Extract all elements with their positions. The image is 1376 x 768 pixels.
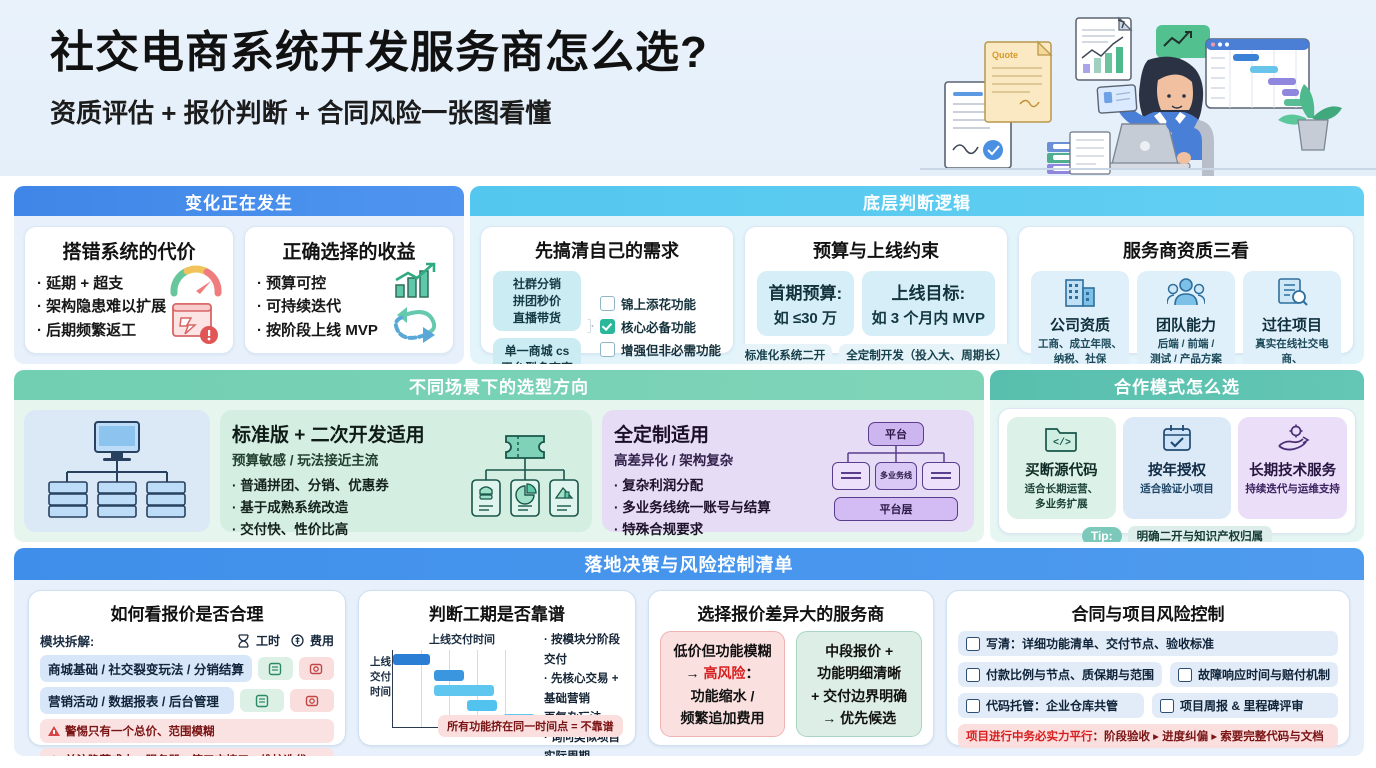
quote-warning: 警惕只有一个总价、范围模糊 [40, 719, 334, 743]
contract-footer-key: 项目进行中务必实力平行 [966, 731, 1093, 743]
need-check-label: 锦上添花功能 [621, 294, 696, 313]
section-logic-heading: 底层判断逻辑 [470, 186, 1364, 216]
checkbox-unchecked[interactable] [600, 296, 615, 311]
vendor-card: 选择报价差异大的服务商 低价但功能模糊 → 高风险： 功能缩水 / 频繁追加费用… [648, 590, 934, 746]
vendor-low-line4: 频繁追加费用 [667, 707, 779, 729]
qual-item-title: 团队能力 [1141, 314, 1231, 335]
coop-card: </> 买断源代码 适合长期运营、多业务扩展 按年授权 [998, 408, 1356, 534]
section-coop-heading: 合作模式怎么选 [990, 370, 1364, 400]
contract-footer: 项目进行中务必实力平行：阶段验收 ▸ 进度纠偏 ▸ 索要完整代码与文档 [958, 724, 1338, 748]
scene-illustration [24, 410, 210, 532]
section-coop: 合作模式怎么选 </> 买断源代码 适合长期运营、多业务扩展 [990, 370, 1364, 542]
platform-node-top: 平台 [868, 422, 924, 446]
platform-node-right [922, 462, 960, 490]
contract-row-label: 项目周报 & 里程碑评审 [1180, 697, 1303, 714]
bullet: · 特殊合规要求 [614, 519, 830, 541]
contract-row-label: 代码托管：企业仓库共管 [986, 697, 1118, 714]
code-folder-icon: </> [1044, 424, 1078, 452]
quote-card: 如何看报价是否合理 模块拆解: 工时 费用 [28, 590, 346, 746]
risk-badge: 高风险 [703, 665, 745, 681]
warning-triangle-icon [48, 726, 60, 736]
scene-custom-bullets: · 复杂利润分配 · 多业务线统一账号与结算 · 特殊合规要求 [614, 475, 830, 541]
header-banner: 社交电商系统开发服务商怎么选? 资质评估 + 报价判断 + 合同风险一张图看懂 [0, 0, 1376, 176]
page-title: 社交电商系统开发服务商怎么选? [50, 28, 708, 79]
budget-box-line1: 首期预算: [767, 279, 844, 304]
diagram-connector [834, 446, 958, 462]
section-change: 变化正在发生 搭错系统的代价 · 延期 + 超支 · 架构隐患难以扩展 · 后期… [14, 186, 464, 364]
budget-box: 首期预算: 如 ≤30 万 [757, 271, 854, 336]
launch-box: 上线目标: 如 3 个月内 MVP [862, 271, 995, 336]
scene-standard-subtitle: 预算敏感 / 玩法接近主流 [232, 449, 470, 469]
quote-left-label: 模块拆解: [40, 631, 94, 650]
vendor-option-mid: 中段报价 + 功能明细清晰 + 交付边界明确 → 优先候选 [796, 631, 922, 737]
quote-row-label: 商城基础 / 社交裂变玩法 / 分销结算 [40, 655, 252, 682]
contract-row[interactable]: 代码托管：企业仓库共管 [958, 693, 1144, 718]
colon: ： [745, 665, 759, 681]
growth-chart-icon [393, 261, 439, 299]
quote-row: 营销活动 / 数据报表 / 后台管理 [40, 687, 334, 714]
bullet: · 复杂利润分配 [614, 475, 830, 497]
budget-tag: 全定制开发（投入大、周期长） [839, 344, 1014, 364]
bullet: · 基于成熟系统改造 [232, 497, 470, 519]
qual-item-projects: 过往项目 真实在线社交电商、后台演示、迭代版本 [1243, 271, 1341, 364]
need-check-label: 增强但非必需功能 [621, 340, 721, 359]
bullet: · 多业务线统一账号与结算 [614, 497, 830, 519]
qual-item-team: 团队能力 后端 / 前端 /测试 / 产品方案 [1137, 271, 1235, 364]
need-card-title: 先搞清自己的需求 [493, 237, 721, 263]
cost-cell [290, 689, 334, 712]
hourglass-icon [237, 634, 250, 648]
contract-card: 合同与项目风险控制 写清：详细功能清单、交付节点、验收标准 付款比例与节点、质保… [946, 590, 1350, 746]
qual-item-desc: 工商、成立年限、纳税、社保 [1035, 337, 1125, 364]
contract-card-title: 合同与项目风险控制 [958, 600, 1338, 625]
modules-tree-icon [470, 424, 580, 524]
cost-card: 搭错系统的代价 · 延期 + 超支 · 架构隐患难以扩展 · 后期频繁返工 [24, 226, 234, 354]
gantt-top-label: 上线交付时间 [388, 631, 536, 647]
vendor-low-risk-line: → 高风险： [667, 662, 779, 684]
need-check-row[interactable]: 增强但非必需功能 [600, 340, 721, 359]
checkbox-unchecked[interactable] [966, 699, 980, 713]
quote-row-label: 营销活动 / 数据报表 / 后台管理 [40, 687, 234, 714]
coop-item-title: 买断源代码 [1010, 459, 1113, 480]
gantt-bar [467, 700, 497, 711]
legend-label-hours: 工时 [256, 632, 280, 649]
checkbox-unchecked[interactable] [966, 637, 980, 651]
tip-text: 明确二开与知识产权归属 [1128, 526, 1273, 542]
budget-card: 预算与上线约束 首期预算: 如 ≤30 万 上线目标: 如 3 个月内 MVP … [744, 226, 1008, 354]
coop-item-longterm: 长期技术服务 持续迭代与运维支持 [1238, 417, 1347, 519]
calendar-check-icon [1161, 424, 1193, 452]
section-scene: 不同场景下的选型方向 [14, 370, 984, 542]
arrow-glyph: → [686, 665, 700, 681]
section-logic: 底层判断逻辑 先搞清自己的需求 社群分销拼团秒价直播带货 单一商城 cs平台型多… [470, 186, 1364, 364]
contract-row-label: 故障响应时间与赔付机制 [1198, 666, 1330, 683]
bullet: · 先核心交易 + 基础营销 [544, 670, 624, 709]
contract-row[interactable]: 写清：详细功能清单、交付节点、验收标准 [958, 631, 1338, 656]
alert-window-icon [171, 301, 221, 347]
checkbox-checked[interactable] [600, 319, 615, 334]
scene-standard-title: 标准版 + 二次开发适用 [232, 420, 470, 447]
benefit-card: 正确选择的收益 · 预算可控 · 可持续迭代 · 按阶段上线 MVP [244, 226, 454, 354]
infographic-page: 社交电商系统开发服务商怎么选? 资质评估 + 报价判断 + 合同风险一张图看懂 [0, 0, 1376, 768]
gantt-bar [434, 670, 464, 681]
coop-item-desc: 适合长期运营、多业务扩展 [1010, 482, 1113, 512]
checkbox-unchecked[interactable] [600, 342, 615, 357]
launch-box-line2: 如 3 个月内 MVP [872, 307, 985, 328]
vendor-card-title: 选择报价差异大的服务商 [660, 600, 922, 625]
vendor-option-low: 低价但功能模糊 → 高风险： 功能缩水 / 频繁追加费用 [660, 631, 786, 737]
scene-custom-title: 全定制适用 [614, 420, 830, 447]
list-icon [255, 694, 269, 708]
qualification-card-title: 服务商资质三看 [1031, 237, 1341, 263]
qual-item-title: 过往项目 [1247, 314, 1337, 335]
coop-tip: Tip: 明确二开与知识产权归属 [1007, 526, 1347, 542]
header-illustration: Quote [920, 0, 1376, 176]
vendor-low-line1: 低价但功能模糊 [667, 640, 779, 662]
quote-warning: 关注隐藏成本：服务器、第三方接口、维护迭代 [40, 748, 334, 756]
bullet: · 按模块分阶段交付 [544, 631, 624, 670]
vendor-mid-line4: → 优先候选 [803, 707, 915, 729]
gauge-icon [169, 263, 223, 297]
launch-box-line1: 上线目标: [872, 279, 985, 304]
need-check-row[interactable]: 核心必备功能 [600, 317, 721, 336]
qual-item-desc: 后端 / 前端 /测试 / 产品方案 [1141, 337, 1231, 364]
team-icon [1167, 277, 1205, 307]
quote-warning-text: 警惕只有一个总价、范围模糊 [65, 723, 215, 739]
contract-row[interactable]: 故障响应时间与赔付机制 [1170, 662, 1338, 687]
bullet: · 交付快、性价比高 [232, 519, 470, 541]
scene-standard: 标准版 + 二次开发适用 预算敏感 / 玩法接近主流 · 普通拼团、分销、优惠券… [220, 410, 592, 532]
contract-footer-text: ：阶段验收 ▸ 进度纠偏 ▸ 索要完整代码与文档 [1092, 731, 1323, 743]
coop-item-title: 长期技术服务 [1241, 459, 1344, 480]
quote-card-title: 如何看报价是否合理 [40, 600, 334, 625]
quote-row: 商城基础 / 社交裂变玩法 / 分销结算 [40, 655, 334, 682]
platform-node-bottom: 平台层 [834, 497, 958, 521]
coop-item-desc: 持续迭代与运维支持 [1241, 482, 1344, 497]
qual-item-title: 公司资质 [1035, 314, 1125, 335]
contract-row-label: 写清：详细功能清单、交付节点、验收标准 [986, 635, 1214, 652]
platform-node-mid: 多业务线 [875, 462, 917, 490]
connector-arrow-icon [587, 294, 594, 358]
scene-custom: 全定制适用 高差异化 / 架构复杂 · 复杂利润分配 · 多业务线统一账号与结算… [602, 410, 974, 532]
cost-box-icon [305, 694, 319, 708]
budget-card-title: 预算与上线约束 [757, 237, 995, 263]
platform-diagram: 平台 多业务线 平 [830, 420, 962, 522]
legend-label-cost: 费用 [310, 632, 334, 649]
schedule-bullets: · 按模块分阶段交付 · 先核心交易 + 基础营销 再复杂玩法 · 询问类似项目… [544, 631, 624, 756]
coop-item-annual: 按年授权 适合验证小项目 [1123, 417, 1232, 519]
gantt-y-label: 上线交付时间 [370, 655, 391, 701]
budget-tag: 标准化系统二开 [738, 344, 833, 364]
benefit-card-title: 正确选择的收益 [257, 237, 441, 264]
qualification-card: 服务商资质三看 公司资质 工商、成立年限、纳税、社保 [1018, 226, 1354, 354]
gantt-bar [393, 654, 430, 665]
vendor-mid-line2: 功能明细清晰 [803, 662, 915, 684]
checkbox-unchecked[interactable] [1160, 699, 1174, 713]
schedule-card-title: 判断工期是否靠谱 [370, 600, 624, 625]
vendor-low-line3: 功能缩水 / [667, 685, 779, 707]
building-icon [1062, 277, 1098, 307]
platform-node-left [832, 462, 870, 490]
page-subtitle: 资质评估 + 报价判断 + 合同风险一张图看懂 [50, 93, 708, 130]
header-text-block: 社交电商系统开发服务商怎么选? 资质评估 + 报价判断 + 合同风险一张图看懂 [50, 28, 708, 130]
bullet: · 普通拼团、分销、优惠券 [232, 475, 470, 497]
quote-warning-text: 关注隐藏成本：服务器、第三方接口、维护迭代 [65, 752, 307, 756]
hand-gear-icon [1276, 424, 1310, 452]
coop-item-desc: 适合验证小项目 [1126, 482, 1229, 497]
money-icon [291, 634, 304, 647]
vendor-mid-line3: + 交付边界明确 [803, 685, 915, 707]
document-search-icon [1275, 277, 1309, 307]
section-change-heading: 变化正在发生 [14, 186, 464, 216]
iterate-arrows-icon [391, 303, 441, 345]
checkbox-unchecked[interactable] [1178, 668, 1192, 682]
scene-custom-subtitle: 高差异化 / 架构复杂 [614, 449, 830, 469]
svg-text:</>: </> [1053, 437, 1071, 449]
tip-label: Tip: [1082, 527, 1122, 542]
qual-item-company: 公司资质 工商、成立年限、纳税、社保 [1031, 271, 1129, 364]
quote-legend: 工时 费用 [237, 632, 334, 649]
need-check-label: 核心必备功能 [621, 317, 696, 336]
contract-row-label: 付款比例与节点、质保期与范围 [986, 666, 1154, 683]
scene-standard-bullets: · 普通拼团、分销、优惠券 · 基于成熟系统改造 · 交付快、性价比高 [232, 475, 470, 541]
need-pill: 单一商城 cs平台型多商家 [493, 338, 581, 364]
gantt-bar [434, 685, 494, 696]
schedule-footer: 所有功能挤在同一时间点 = 不靠谱 [438, 715, 623, 737]
gantt-chart: 上线交付时间 上线交付时间 [370, 631, 536, 756]
cost-cell [299, 657, 334, 680]
qual-item-desc: 真实在线社交电商、后台演示、迭代版本 [1247, 337, 1337, 364]
checkbox-unchecked[interactable] [966, 668, 980, 682]
section-land-heading: 落地决策与风险控制清单 [14, 548, 1364, 580]
contract-row[interactable]: 付款比例与节点、质保期与范围 [958, 662, 1162, 687]
coop-item-buyout: </> 买断源代码 适合长期运营、多业务扩展 [1007, 417, 1116, 519]
budget-box-line2: 如 ≤30 万 [767, 307, 844, 328]
hours-cell [240, 689, 284, 712]
vendor-mid-line1: 中段报价 + [803, 640, 915, 662]
contract-row[interactable]: 项目周报 & 里程碑评审 [1152, 693, 1338, 718]
warning-triangle-icon [48, 755, 60, 756]
coop-item-title: 按年授权 [1126, 459, 1229, 480]
hours-cell [258, 657, 293, 680]
section-scene-heading: 不同场景下的选型方向 [14, 370, 984, 400]
server-topology-icon [47, 420, 187, 522]
section-land: 落地决策与风险控制清单 如何看报价是否合理 模块拆解: 工时 [14, 548, 1364, 756]
cost-box-icon [309, 662, 323, 676]
need-check-row[interactable]: 锦上添花功能 [600, 294, 721, 313]
cost-card-title: 搭错系统的代价 [37, 237, 221, 264]
list-icon [268, 662, 282, 676]
need-card: 先搞清自己的需求 社群分销拼团秒价直播带货 单一商城 cs平台型多商家 [480, 226, 734, 354]
svg-text:Quote: Quote [992, 50, 1018, 60]
schedule-card: 判断工期是否靠谱 上线交付时间 上线交付时间 [358, 590, 636, 746]
need-pill: 社群分销拼团秒价直播带货 [493, 271, 581, 331]
